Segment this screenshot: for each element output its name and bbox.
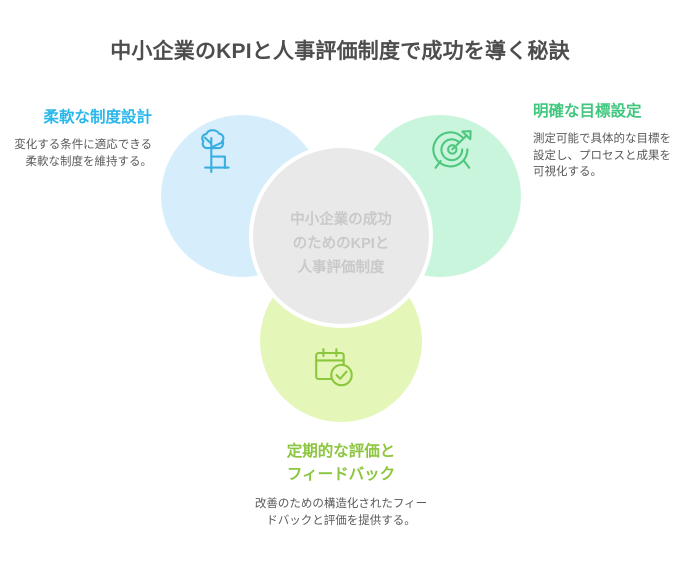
block-clear-goals: 明確な目標設定 測定可能で具体的な目標を設定し、プロセスと成果を可視化する。	[533, 101, 673, 181]
center-circle[interactable]	[253, 148, 429, 324]
block-regular-review: 定期的な評価と フィードバック 改善のための構造化されたフィードバックと評価を提…	[251, 440, 431, 529]
block-flexible-design-body: 変化する条件に適応できる柔軟な制度を維持する。	[12, 137, 152, 170]
block-regular-review-heading: 定期的な評価と フィードバック	[251, 440, 431, 486]
block-clear-goals-heading: 明確な目標設定	[533, 101, 673, 122]
infographic-root: 中小企業のKPIと人事評価制度で成功を導く秘訣	[0, 0, 680, 588]
block-regular-review-heading-line-2: フィードバック	[251, 463, 431, 486]
block-regular-review-body: 改善のための構造化されたフィードバックと評価を提供する。	[251, 496, 431, 529]
block-flexible-design: 柔軟な制度設計 変化する条件に適応できる柔軟な制度を維持する。	[12, 107, 152, 170]
block-regular-review-heading-line-1: 定期的な評価と	[251, 440, 431, 463]
block-flexible-design-heading: 柔軟な制度設計	[12, 107, 152, 128]
block-clear-goals-body: 測定可能で具体的な目標を設定し、プロセスと成果を可視化する。	[533, 131, 673, 181]
